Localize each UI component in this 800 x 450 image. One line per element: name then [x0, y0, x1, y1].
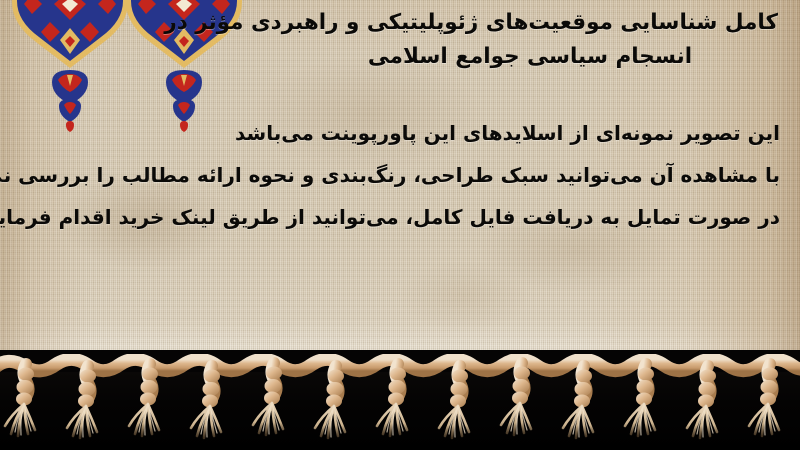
- slide-body-line-3: در صورت تمایل به دریافت فایل کامل، می‌تو…: [20, 196, 780, 238]
- slide-body-line-1: این تصویر نمونه‌ای از اسلایدهای این پاور…: [20, 112, 780, 154]
- presentation-slide: کامل شناسایی موقعیت‌های ژئوپلیتیکی و راه…: [0, 0, 800, 450]
- slide-body-line-2: با مشاهده آن می‌توانید سبک طراحی، رنگ‌بن…: [20, 154, 780, 196]
- slide-body: این تصویر نمونه‌ای از اسلایدهای این پاور…: [20, 112, 780, 238]
- carpet-fringe-zone: [0, 350, 800, 450]
- slide-title-line-1: کامل شناسایی موقعیت‌های ژئوپلیتیکی و راه…: [218, 6, 778, 40]
- fringe-tassel-group: [0, 350, 800, 450]
- slide-title: کامل شناسایی موقعیت‌های ژئوپلیتیکی و راه…: [218, 6, 778, 74]
- slide-title-line-2: انسجام سیاسی جوامع اسلامی: [218, 40, 778, 74]
